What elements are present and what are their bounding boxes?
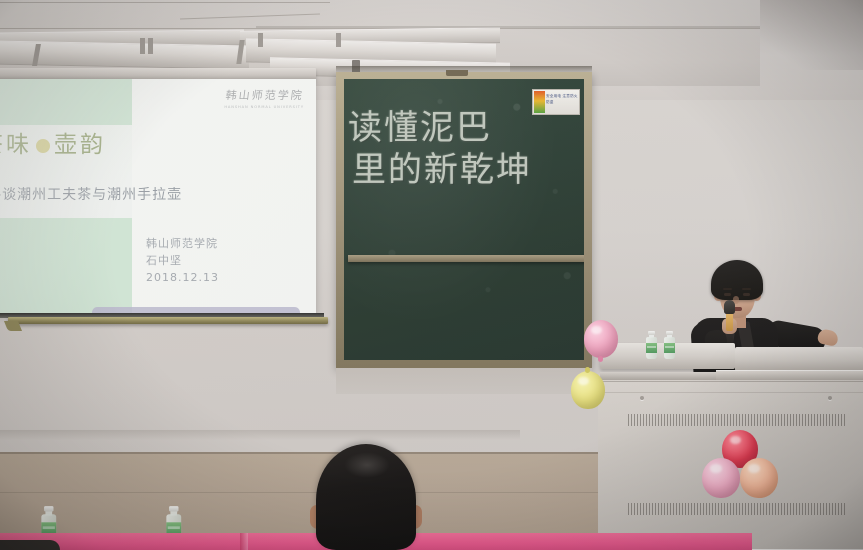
balloon-peach bbox=[740, 458, 778, 498]
microphone-body bbox=[726, 313, 733, 331]
speaker-eye-left bbox=[724, 293, 731, 296]
water-bottle-podium-1 bbox=[645, 331, 659, 361]
slide-logo-english: HANSHAN NORMAL UNIVERSITY bbox=[224, 105, 304, 109]
blackboard-mid-ledge bbox=[348, 255, 584, 262]
slide-date: 2018.12.13 bbox=[146, 269, 219, 286]
microphone-head-icon bbox=[724, 300, 735, 314]
balloon-yellow bbox=[571, 371, 605, 409]
slide-accent-bottom-left bbox=[0, 218, 132, 313]
podium-vent-upper bbox=[628, 414, 846, 426]
slide-title-right: 壶韵 bbox=[54, 132, 106, 158]
bottle-label bbox=[664, 343, 675, 353]
balloon-pink bbox=[702, 458, 740, 498]
slide-title-left: 茶味 bbox=[0, 132, 32, 158]
wainscot-top-line bbox=[0, 452, 600, 454]
lecture-hall-photo: Angiline 韩山师范学院 HANSHAN NORMAL UNIVERSIT… bbox=[0, 0, 863, 550]
speaker-hair bbox=[711, 260, 763, 300]
light-bracket-6 bbox=[336, 33, 341, 47]
light-bracket-5 bbox=[258, 33, 263, 47]
balloon-knot-pink-upper bbox=[598, 356, 603, 362]
projection-screen: 韩山师范学院 HANSHAN NORMAL UNIVERSITY 茶味壶韵 --… bbox=[0, 79, 316, 313]
blackboard-line-1: 读懂泥巴 bbox=[348, 107, 584, 149]
slide-presenter: 石中坚 bbox=[146, 252, 219, 269]
speaker-brow-left bbox=[723, 288, 732, 290]
water-bottle-podium-2 bbox=[663, 331, 677, 361]
slide-accent-top-left bbox=[0, 79, 132, 125]
sticker-text: 安全用电 注意防火防盗 bbox=[546, 93, 579, 105]
speaker-brow-right bbox=[742, 288, 751, 290]
slide-subtitle: ---谈潮州工夫茶与潮州手拉壶 bbox=[0, 184, 182, 204]
audience-shoulder-left bbox=[0, 540, 60, 550]
slide-title-dot-icon bbox=[36, 139, 50, 153]
balloon-pink-upper bbox=[584, 320, 618, 358]
blackboard-chalk-text: 读懂泥巴 里的新乾坤 bbox=[348, 107, 584, 191]
slide-university-logo: 韩山师范学院 HANSHAN NORMAL UNIVERSITY bbox=[224, 87, 304, 109]
blackboard-lower-wall bbox=[336, 368, 592, 394]
audience-hair-highlight bbox=[344, 452, 390, 478]
light-bracket-2 bbox=[140, 38, 145, 54]
slide-meta-block: 韩山师范学院 石中坚 2018.12.13 bbox=[146, 235, 219, 286]
podium-seam-2 bbox=[598, 392, 863, 393]
podium-screw-right bbox=[828, 396, 832, 400]
podium-surface-right bbox=[735, 347, 863, 371]
wainscot-second-line bbox=[0, 492, 600, 493]
podium-vent-lower bbox=[628, 503, 846, 515]
ceiling-seam-2 bbox=[0, 2, 330, 3]
banner-fold bbox=[240, 533, 248, 550]
blackboard-surface: 安全用电 注意防火防盗 读懂泥巴 里的新乾坤 bbox=[344, 79, 584, 360]
podium-screw-left bbox=[640, 396, 644, 400]
balloon-knot-yellow bbox=[585, 367, 590, 373]
slide-title: 茶味壶韵 bbox=[0, 125, 106, 159]
light-bracket-3 bbox=[148, 38, 153, 54]
wall-shading-band bbox=[0, 430, 520, 440]
ceiling-seam-4 bbox=[256, 26, 760, 28]
blackboard-frame: 安全用电 注意防火防盗 读懂泥巴 里的新乾坤 bbox=[336, 72, 592, 368]
projected-slide: 韩山师范学院 HANSHAN NORMAL UNIVERSITY 茶味壶韵 --… bbox=[0, 79, 316, 313]
bottle-label bbox=[646, 343, 657, 353]
blackboard-clip bbox=[446, 70, 468, 76]
slide-affiliation: 韩山师范学院 bbox=[146, 235, 219, 252]
blackboard-line-2: 里的新乾坤 bbox=[348, 149, 584, 191]
slide-logo-chinese: 韩山师范学院 bbox=[223, 87, 305, 103]
podium-seam-top bbox=[598, 381, 863, 382]
screen-weight-rod bbox=[8, 317, 328, 324]
speaker-eye-right bbox=[743, 293, 750, 296]
